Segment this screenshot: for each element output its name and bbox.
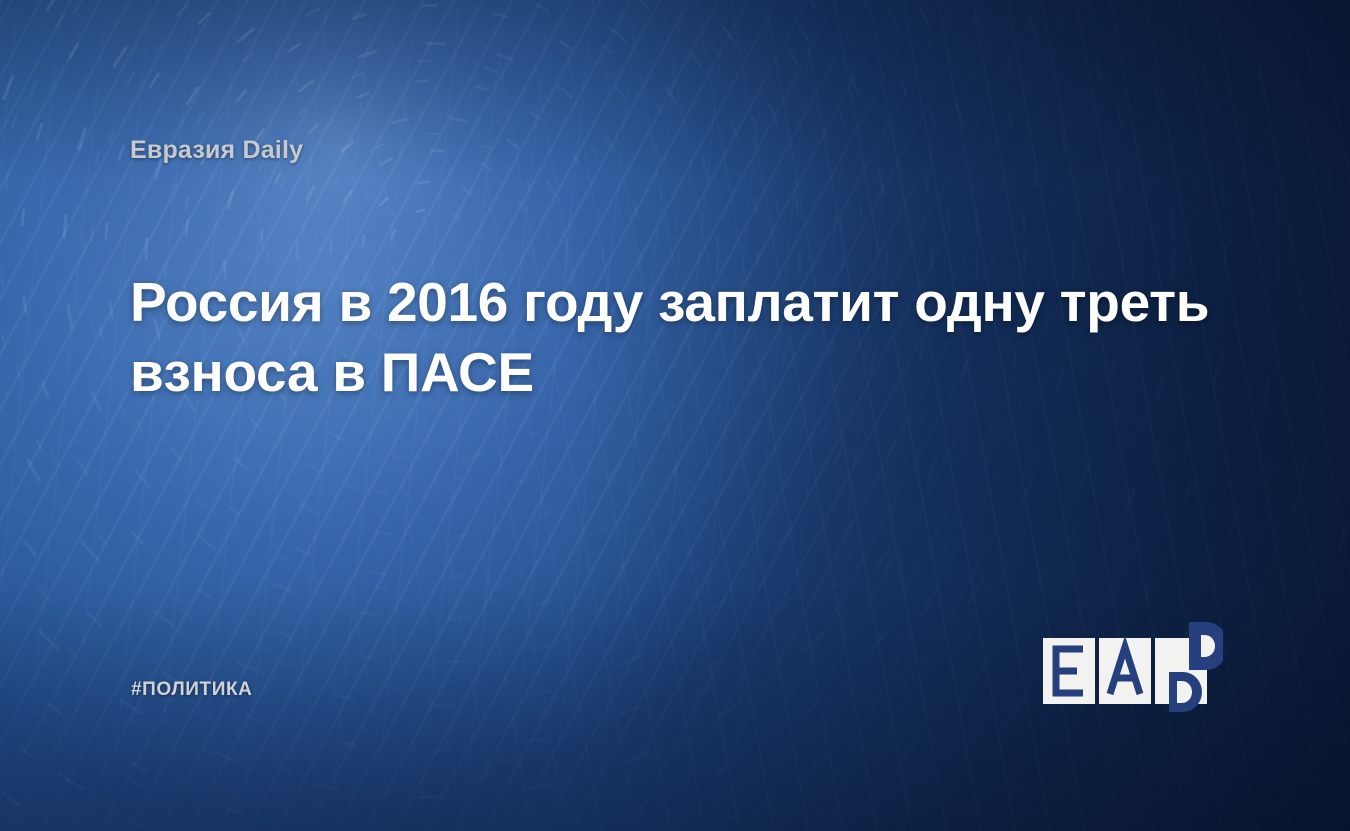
category-tag[interactable]: #ПОЛИТИКА <box>131 679 253 701</box>
news-card: Евразия Daily Россия в 2016 году заплати… <box>0 0 1350 831</box>
headline: Россия в 2016 году заплатит одну треть в… <box>130 267 1230 408</box>
site-name: Евразия Daily <box>130 136 303 165</box>
eadaily-logo[interactable] <box>1043 620 1223 718</box>
card-content: Евразия Daily Россия в 2016 году заплати… <box>0 0 1350 831</box>
